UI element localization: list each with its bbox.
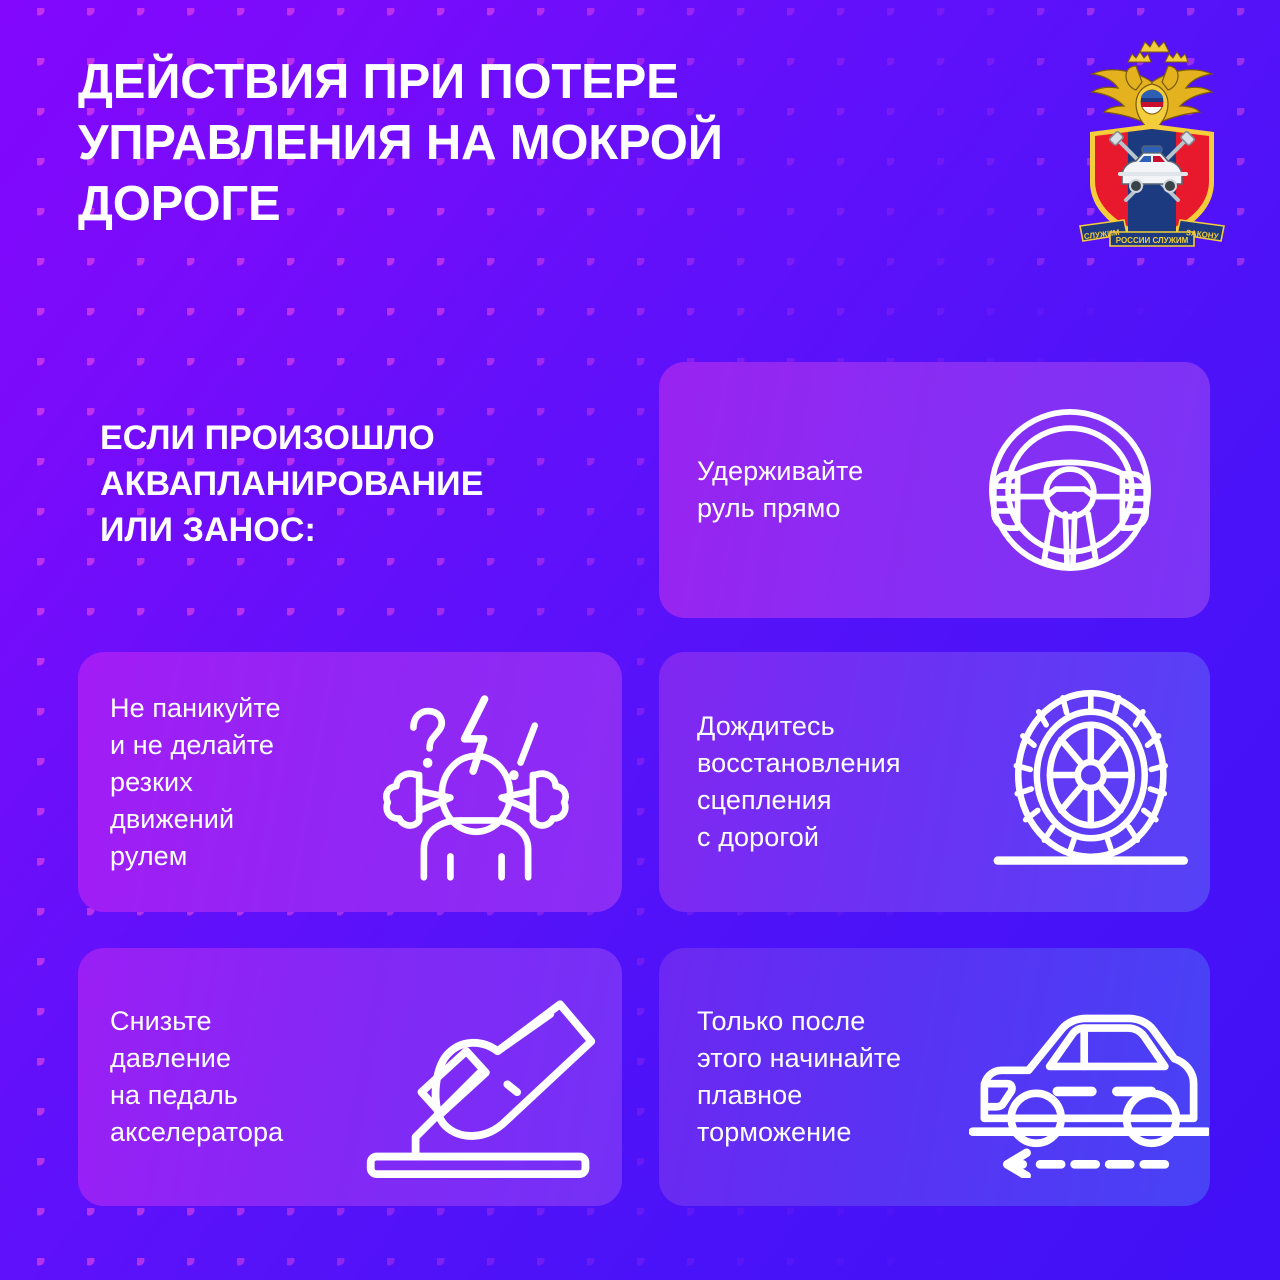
card-hold-wheel: Удерживайте руль прямо <box>659 362 1210 618</box>
card-reduce-pedal: Снизьте давление на педаль акселератора <box>78 948 622 1206</box>
page-title: ДЕЙСТВИЯ ПРИ ПОТЕРЕ УПРАВЛЕНИЯ НА МОКРОЙ… <box>78 52 938 235</box>
infographic-poster: ДЕЙСТВИЯ ПРИ ПОТЕРЕ УПРАВЛЕНИЯ НА МОКРОЙ… <box>0 0 1280 1280</box>
car-braking-icon <box>967 976 1210 1178</box>
card-reduce-pedal-text: Снизьте давление на педаль акселератора <box>110 1003 340 1151</box>
double-headed-eagle-icon <box>1092 40 1212 132</box>
stressed-person-icon <box>330 680 622 884</box>
gibdd-emblem: СЛУЖИМ РОССИИ СЛУЖИМ ЗАКОНУ <box>1066 36 1238 252</box>
header: ДЕЙСТВИЯ ПРИ ПОТЕРЕ УПРАВЛЕНИЯ НА МОКРОЙ… <box>78 52 938 235</box>
steering-wheel-icon <box>929 390 1210 590</box>
card-hold-wheel-text: Удерживайте руль прямо <box>697 453 929 527</box>
dashed-arrow-left-icon <box>1007 1153 1164 1176</box>
card-no-panic: Не паникуйте и не делайте резких движени… <box>78 652 622 912</box>
card-wait-grip-text: Дождитесь восстановления сцепления с дор… <box>697 708 965 856</box>
card-no-panic-text: Не паникуйте и не делайте резких движени… <box>110 690 330 875</box>
tire-on-road-icon <box>965 682 1210 882</box>
section-heading: ЕСЛИ ПРОИЗОШЛО АКВАПЛАНИРОВАНИЕ ИЛИ ЗАНО… <box>100 415 640 553</box>
card-wait-grip: Дождитесь восстановления сцепления с дор… <box>659 652 1210 912</box>
card-smooth-brake: Только после этого начинайте плавное тор… <box>659 948 1210 1206</box>
card-smooth-brake-text: Только после этого начинайте плавное тор… <box>697 1003 967 1151</box>
motto-center: РОССИИ СЛУЖИМ <box>1116 236 1189 245</box>
foot-on-pedal-icon <box>340 975 622 1180</box>
